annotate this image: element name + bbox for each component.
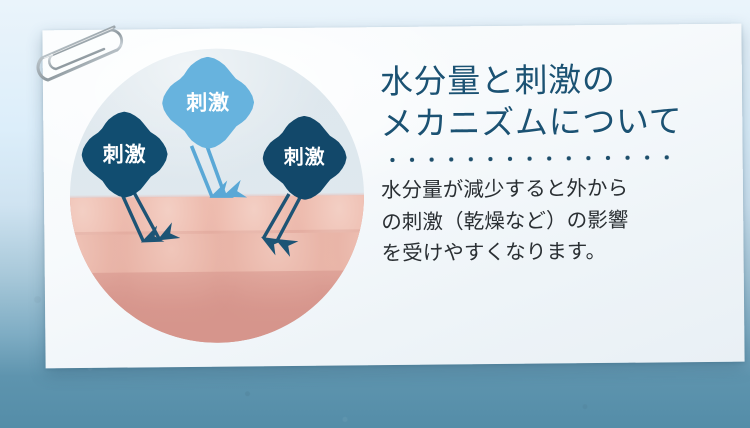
body-paragraph: 水分量が減少すると外から の刺激（乾燥など）の影響 を受けやすくなります。	[381, 173, 702, 270]
skin-illustration-circle: 刺激 刺激 刺激	[69, 47, 366, 344]
text-column: 水分量と刺激の メカニズムについて 水分量が減少すると外から の刺激（乾燥など）…	[380, 59, 702, 269]
stimulus-badge-center-label: 刺激	[186, 92, 230, 113]
paperclip-icon	[18, 8, 138, 88]
page-title-line1: 水分量と刺激の	[380, 63, 616, 101]
stimulus-badge-right-label: 刺激	[284, 148, 326, 168]
page-title: 水分量と刺激の メカニズムについて	[380, 59, 701, 147]
dotted-divider	[381, 153, 677, 166]
body-line-2: の刺激（乾燥など）の影響	[381, 204, 701, 238]
white-card: 刺激 刺激 刺激 水分量と刺激の メカニズムについて 水分量が減少すると外から	[42, 24, 744, 369]
body-line-3: を受けやすくなります。	[381, 235, 701, 269]
body-line-1: 水分量が減少すると外から	[381, 173, 701, 207]
page-title-line2: メカニズムについて	[380, 101, 700, 146]
poster-stage: 刺激 刺激 刺激 水分量と刺激の メカニズムについて 水分量が減少すると外から	[0, 0, 750, 428]
card-inner: 刺激 刺激 刺激 水分量と刺激の メカニズムについて 水分量が減少すると外から	[42, 24, 744, 369]
skin-shade-band-lower	[69, 271, 366, 344]
stimulus-badge-left-label: 刺激	[103, 144, 147, 165]
